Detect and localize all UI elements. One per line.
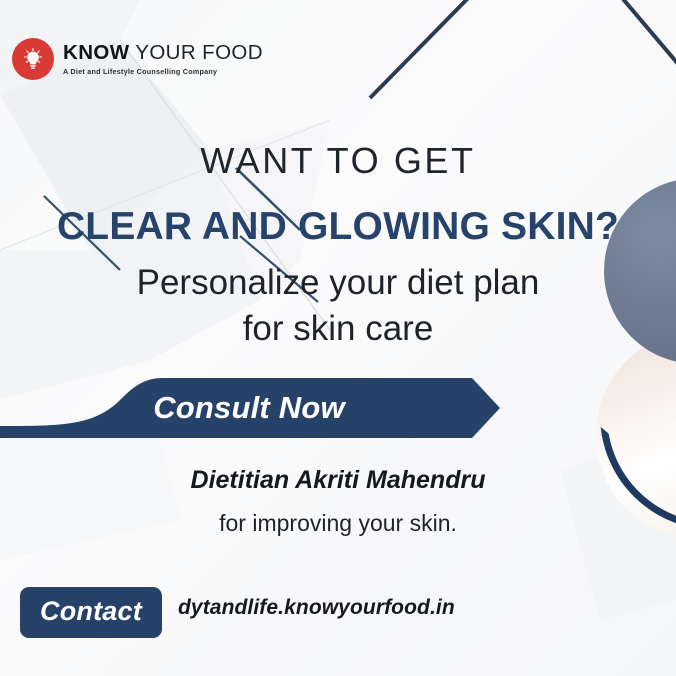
brand-tagline: A Diet and Lifestyle Counselling Company	[63, 68, 263, 75]
headline-line-1: WANT TO GET	[0, 140, 676, 182]
contact-button[interactable]: Contact	[20, 587, 162, 638]
brand-name-rest: YOUR FOOD	[130, 41, 263, 64]
subheadline: Personalize your diet plan for skin care	[0, 260, 676, 352]
brand-name: KNOW YOUR FOOD	[63, 43, 263, 64]
brand-name-bold: KNOW	[63, 41, 130, 64]
brand-logo: KNOW YOUR FOOD A Diet and Lifestyle Coun…	[12, 38, 263, 80]
dietitian-name: Dietitian Akriti Mahendru	[0, 466, 676, 495]
website-url[interactable]: dytandlife.knowyourfood.in	[178, 596, 455, 620]
consult-now-label: Consult Now	[0, 376, 470, 440]
promotional-poster: KNOW YOUR FOOD A Diet and Lifestyle Coun…	[0, 0, 676, 676]
subheadline-line-2: for skin care	[0, 306, 676, 352]
lightbulb-icon	[12, 38, 54, 80]
consult-now-banner[interactable]: Consult Now	[0, 376, 510, 440]
subheadline-line-1: Personalize your diet plan	[0, 260, 676, 306]
purpose-text: for improving your skin.	[0, 510, 676, 537]
headline-line-2: CLEAR AND GLOWING SKIN?	[0, 205, 676, 249]
